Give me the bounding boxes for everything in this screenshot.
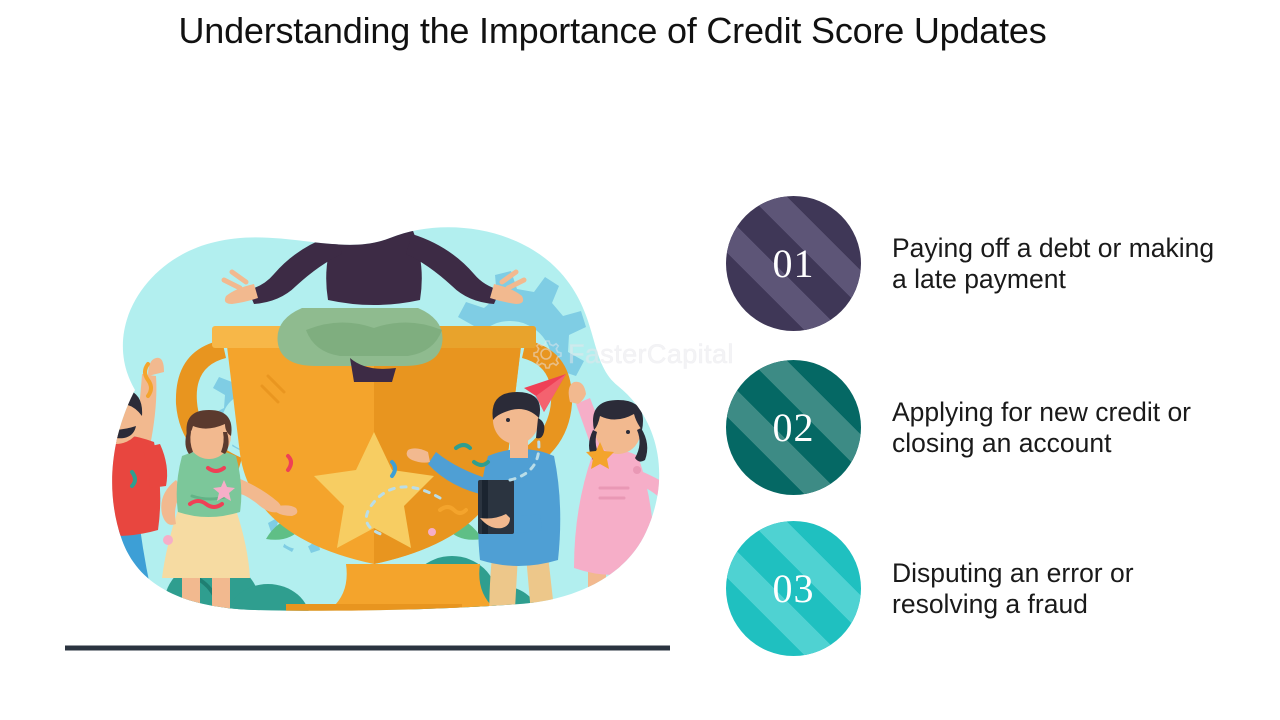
step-number: 03 (773, 569, 815, 609)
step-item-02: 02 Applying for new credit or closing an… (726, 360, 1246, 495)
team-celebrating-trophy-illustration (40, 180, 720, 660)
step-label: Disputing an error or resolving a fraud (892, 558, 1232, 620)
step-label: Paying off a debt or making a late payme… (892, 233, 1232, 295)
page-title: Understanding the Importance of Credit S… (0, 10, 1225, 52)
numbered-steps-list: 01 Paying off a debt or making a late pa… (726, 196, 1246, 666)
woman-pink-dress (569, 382, 702, 636)
step-label: Applying for new credit or closing an ac… (892, 397, 1232, 459)
step-item-01: 01 Paying off a debt or making a late pa… (726, 196, 1246, 331)
step-item-03: 03 Disputing an error or resolving a fra… (726, 521, 1246, 656)
step-circle-01[interactable]: 01 (726, 196, 861, 331)
step-circle-02[interactable]: 02 (726, 360, 861, 495)
step-circle-03[interactable]: 03 (726, 521, 861, 656)
step-number: 02 (773, 408, 815, 448)
step-number: 01 (773, 244, 815, 284)
